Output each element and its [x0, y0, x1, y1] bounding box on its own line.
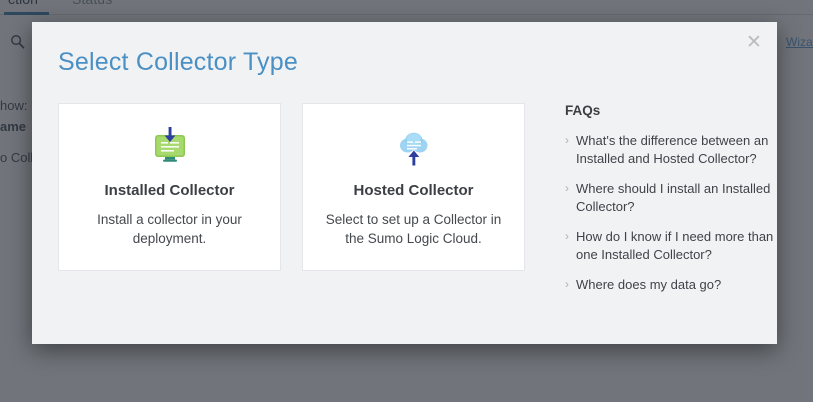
faq-link[interactable]: Where should I install an Installed Coll… [576, 180, 777, 215]
faq-item[interactable]: › Where does my data go? [565, 276, 777, 294]
installed-collector-title: Installed Collector [104, 182, 234, 199]
close-icon[interactable]: ✕ [743, 32, 765, 54]
modal-body: Installed Collector Install a collector … [58, 103, 777, 344]
hosted-collector-description: Select to set up a Collector in the Sumo… [324, 210, 504, 248]
faq-link[interactable]: What's the difference between an Install… [576, 132, 777, 167]
faqs-section: FAQs › What's the difference between an … [565, 103, 777, 307]
installed-collector-description: Install a collector in your deployment. [80, 210, 260, 248]
hosted-collector-card[interactable]: Hosted Collector Select to set up a Coll… [302, 103, 525, 271]
hosted-collector-icon [391, 124, 437, 172]
chevron-right-icon: › [565, 180, 576, 197]
faq-item[interactable]: › What's the difference between an Insta… [565, 132, 777, 167]
faq-item[interactable]: › Where should I install an Installed Co… [565, 180, 777, 215]
faq-item[interactable]: › How do I know if I need more than one … [565, 228, 777, 263]
faq-link[interactable]: How do I know if I need more than one In… [576, 228, 777, 263]
chevron-right-icon: › [565, 228, 576, 245]
installed-collector-icon [147, 124, 193, 172]
chevron-right-icon: › [565, 132, 576, 149]
faq-link[interactable]: Where does my data go? [576, 276, 721, 294]
faqs-heading: FAQs [565, 103, 777, 118]
modal-title: Select Collector Type [58, 48, 298, 77]
hosted-collector-title: Hosted Collector [353, 182, 473, 199]
collector-type-cards: Installed Collector Install a collector … [58, 103, 525, 271]
chevron-right-icon: › [565, 276, 576, 293]
installed-collector-card[interactable]: Installed Collector Install a collector … [58, 103, 281, 271]
select-collector-type-modal: ✕ Select Collector Type [32, 22, 777, 344]
